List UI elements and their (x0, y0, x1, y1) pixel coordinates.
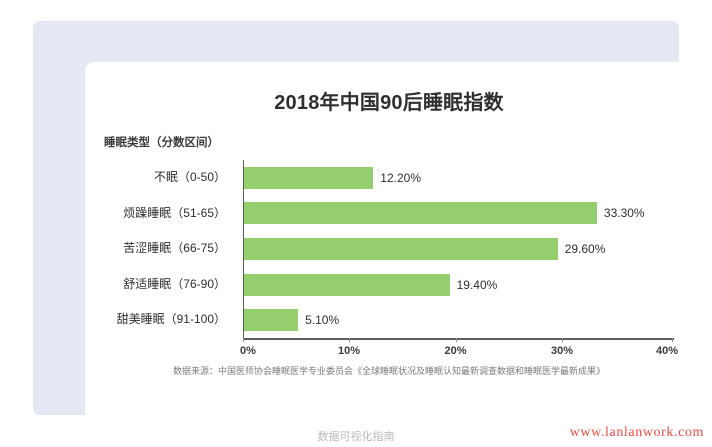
x-axis-tick-labels: 0% 10% 20% 30% 40% (243, 345, 674, 361)
bar-row: 5.10% (244, 302, 674, 338)
x-axis-tick (562, 338, 563, 342)
page-title: 2018年中国90后睡眠指数 (85, 86, 693, 115)
category-label: 甜美睡眠（91-100） (117, 302, 226, 338)
watermark-url: www.lanlanwork.com (570, 425, 704, 441)
source-note: 数据来源：中国医师协会睡眠医学专业委员会《全球睡眠状况及睡眠认知最新调查数据和睡… (85, 364, 693, 377)
category-label: 苦涩睡眠（66-75） (123, 231, 226, 267)
category-axis-title: 睡眠类型（分数区间） (104, 134, 219, 150)
bar[interactable] (244, 167, 373, 189)
x-axis-tick-label: 40% (656, 345, 678, 357)
x-axis-tick (243, 338, 244, 342)
plot-area: 不眠（0-50） 烦躁睡眠（51-65） 苦涩睡眠（66-75） 舒适睡眠（76… (104, 160, 674, 354)
bar[interactable] (244, 274, 450, 296)
bar-value-label: 29.60% (565, 242, 606, 256)
x-axis-tick (456, 338, 457, 342)
x-axis-tick-label: 30% (551, 345, 573, 357)
chart-card: 2018年中国90后睡眠指数 睡眠类型（分数区间） 不眠（0-50） 烦躁睡眠（… (85, 62, 693, 421)
x-axis-tick (349, 338, 350, 342)
bar-series: 12.20% 33.30% 29.60% 19.40% 5.10% (243, 160, 674, 338)
bar-row: 19.40% (244, 267, 674, 303)
bar-row: 33.30% (244, 196, 674, 232)
x-axis-tick-label: 20% (444, 345, 466, 357)
bar-value-label: 19.40% (457, 278, 498, 292)
x-axis-tick (672, 338, 673, 342)
outer-panel: 2018年中国90后睡眠指数 睡眠类型（分数区间） 不眠（0-50） 烦躁睡眠（… (33, 21, 679, 415)
category-label-column: 不眠（0-50） 烦躁睡眠（51-65） 苦涩睡眠（66-75） 舒适睡眠（76… (104, 160, 234, 338)
category-label: 不眠（0-50） (154, 160, 226, 196)
bar[interactable] (244, 238, 558, 260)
x-axis-line (243, 338, 674, 340)
bar-row: 29.60% (244, 231, 674, 267)
x-axis-tick-label: 10% (338, 345, 360, 357)
bar[interactable] (244, 202, 597, 224)
bar-value-label: 5.10% (305, 313, 339, 327)
bar-value-label: 33.30% (604, 206, 645, 220)
category-label: 舒适睡眠（76-90） (123, 267, 226, 303)
category-label: 烦躁睡眠（51-65） (123, 196, 226, 232)
bar[interactable] (244, 309, 298, 331)
bar-row: 12.20% (244, 160, 674, 196)
x-axis-tick-label: 0% (240, 345, 256, 357)
bar-value-label: 12.20% (380, 171, 421, 185)
